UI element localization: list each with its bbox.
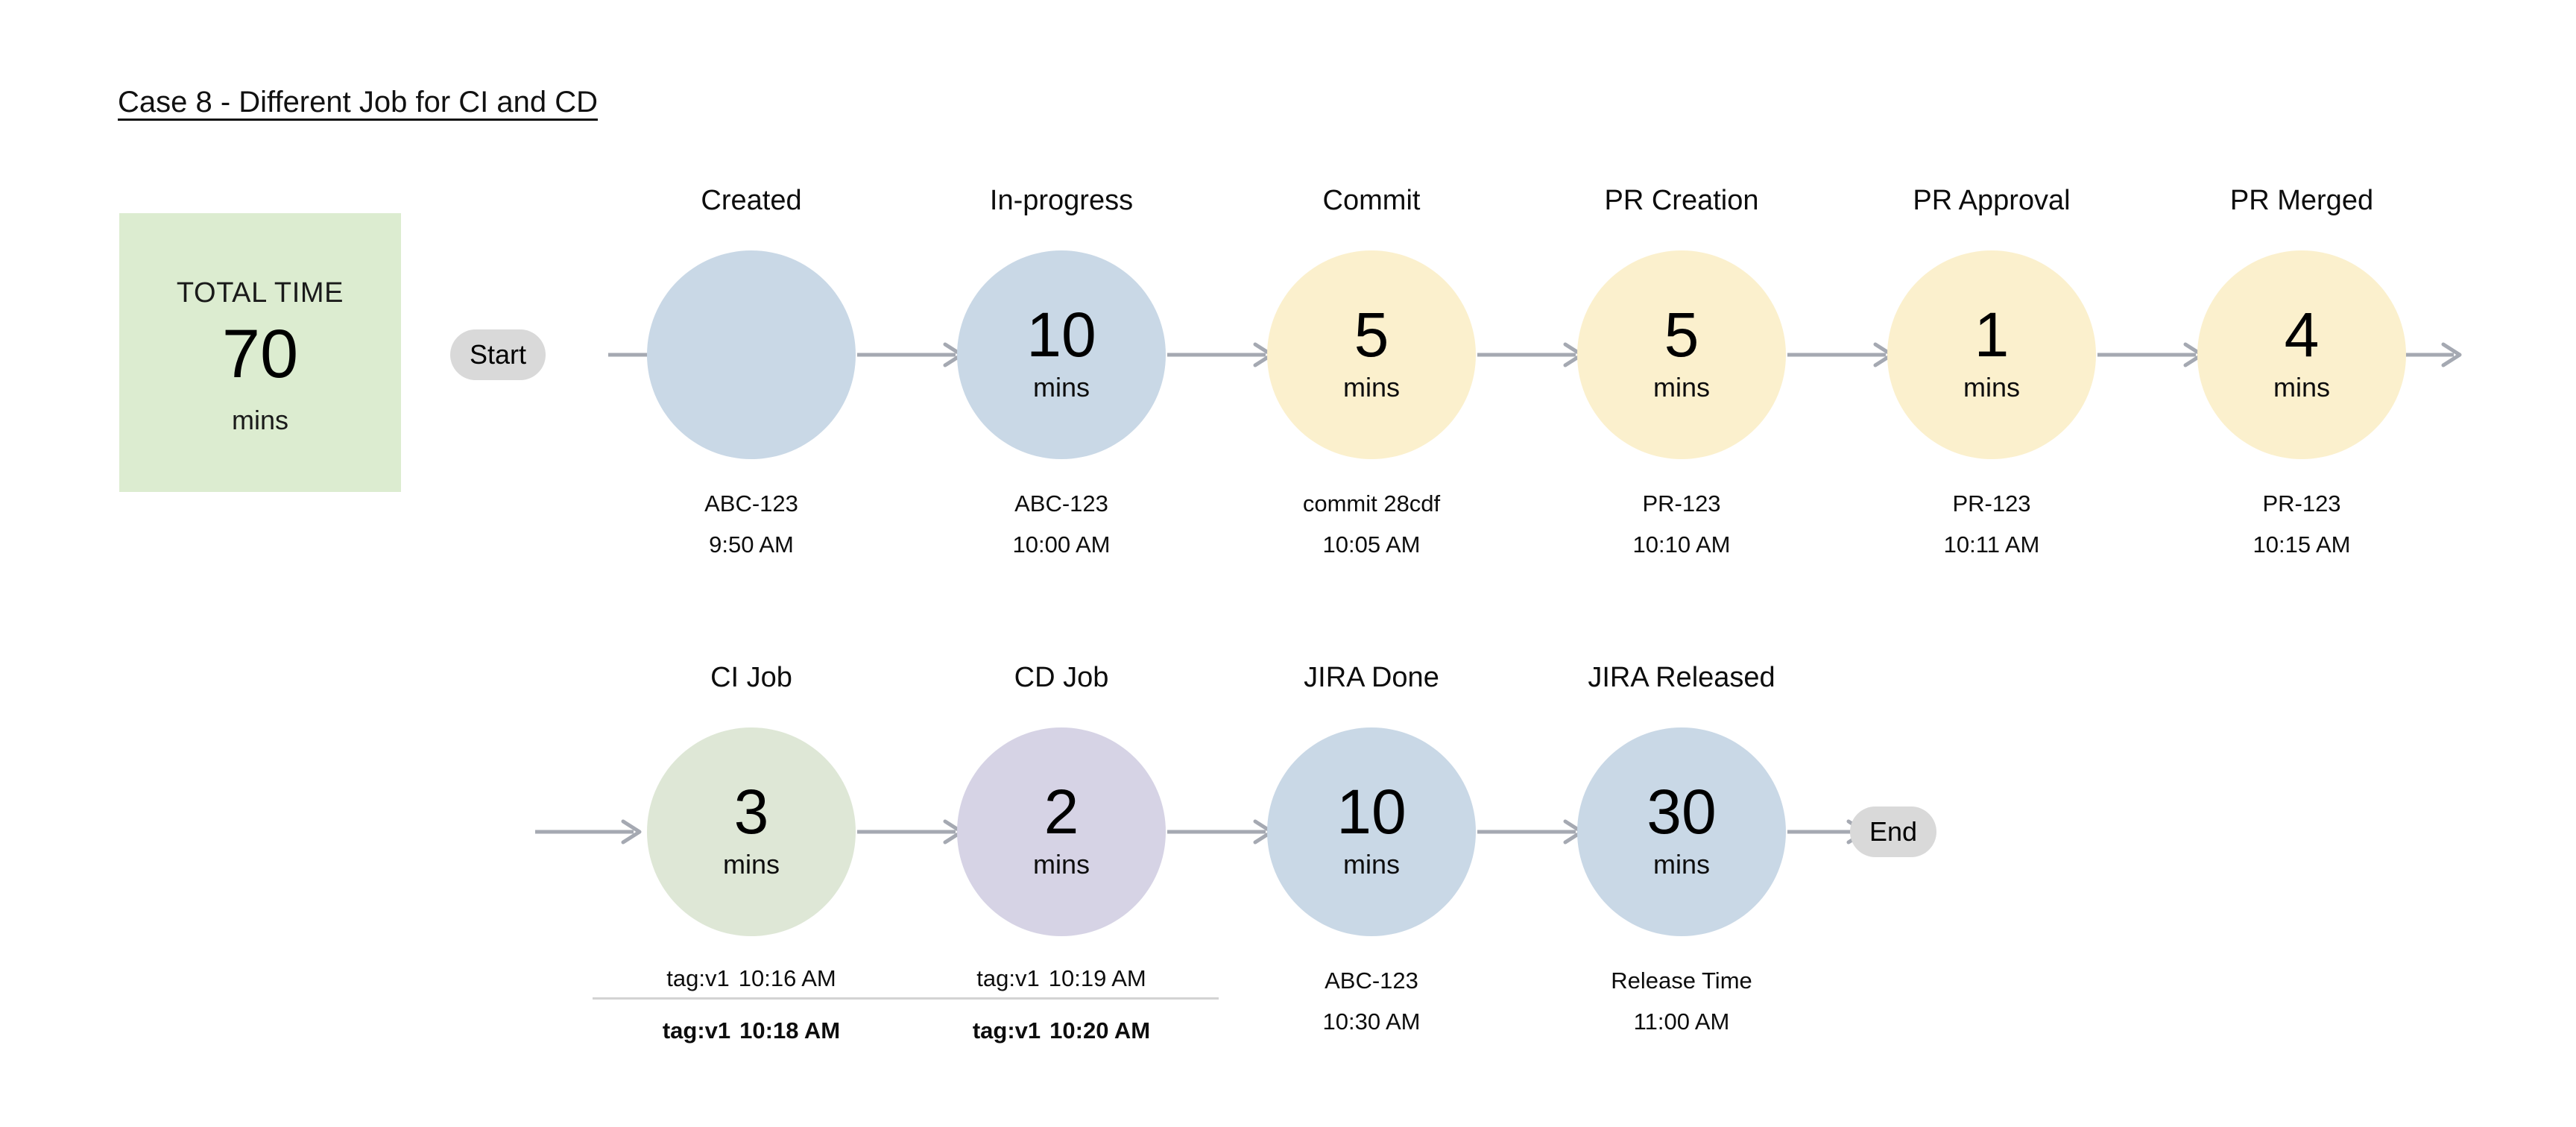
node-value: 5 [1664, 306, 1699, 364]
node-caption: PR-123 10:11 AM [1835, 483, 2148, 565]
node-caption-ref: PR-123 [1642, 490, 1720, 517]
node-title: Created [701, 185, 801, 217]
node-bubble[interactable]: 3 mins [647, 727, 856, 936]
node-unit: mins [1033, 372, 1090, 403]
tag-divider [593, 997, 1219, 1000]
node-value: 2 [1044, 783, 1079, 841]
node-caption-time: 10:15 AM [2145, 524, 2458, 565]
arrow-jiradone-to-jirareleased [1477, 817, 1589, 847]
arrow-cdjob-to-jiradone [1167, 817, 1279, 847]
total-time-unit: mins [232, 405, 288, 436]
node-tag: tag:v1 [663, 1017, 730, 1044]
node-caption: Release Time 11:00 AM [1525, 960, 1838, 1042]
node-unit: mins [1343, 849, 1400, 880]
node-title: JIRA Done [1304, 662, 1439, 694]
page-title: Case 8 - Different Job for CI and CD [118, 83, 598, 121]
node-title: In-progress [990, 185, 1133, 217]
node-bubble[interactable]: 2 mins [957, 727, 1166, 936]
node-caption-time: 10:05 AM [1215, 524, 1528, 565]
arrow-inprogress-to-commit [1167, 340, 1279, 370]
node-caption: ABC-123 10:30 AM [1215, 960, 1528, 1042]
node-value: 4 [2285, 306, 2320, 364]
node-value: 3 [734, 783, 769, 841]
total-time-label: TOTAL TIME [177, 277, 344, 309]
node-tag-time: 10:18 AM [739, 1017, 840, 1044]
node-tag-time: 10:16 AM [739, 965, 836, 991]
node-tag: tag:v1 [666, 965, 729, 991]
node-caption: PR-123 10:15 AM [2145, 483, 2458, 565]
start-pill[interactable]: Start [450, 329, 546, 380]
node-unit: mins [723, 849, 780, 880]
node-tag-time: 10:20 AM [1049, 1017, 1150, 1044]
node-caption-time: 9:50 AM [595, 524, 908, 565]
node-unit: mins [1343, 372, 1400, 403]
node-bubble[interactable]: mins [647, 250, 856, 459]
node-value: 30 [1647, 783, 1716, 841]
node-caption: ABC-123 9:50 AM [595, 483, 908, 565]
node-tag-caption-secondary: tag:v110:18 AM [595, 1012, 908, 1049]
node-caption-ref: PR-123 [1952, 490, 2030, 517]
node-caption-ref: Release Time [1611, 967, 1752, 994]
arrow-prapproval-to-prmerged [2097, 340, 2209, 370]
node-caption: PR-123 10:10 AM [1525, 483, 1838, 565]
node-unit: mins [1653, 849, 1710, 880]
total-time-value: 70 [222, 320, 298, 388]
node-title: PR Merged [2230, 185, 2373, 217]
node-caption-time: 10:00 AM [905, 524, 1218, 565]
node-title: CI Job [710, 662, 792, 694]
node-value: 10 [1026, 306, 1096, 364]
node-bubble[interactable]: 30 mins [1577, 727, 1786, 936]
node-caption-time: 11:00 AM [1525, 1001, 1838, 1042]
node-bubble[interactable]: 10 mins [957, 250, 1166, 459]
total-time-card: TOTAL TIME 70 mins [119, 213, 401, 492]
node-caption-time: 10:11 AM [1835, 524, 2148, 565]
node-bubble[interactable]: 4 mins [2197, 250, 2406, 459]
node-caption-ref: ABC-123 [1014, 490, 1108, 517]
node-unit: mins [1963, 372, 2020, 403]
node-caption: commit 28cdf 10:05 AM [1215, 483, 1528, 565]
node-caption-ref: commit 28cdf [1303, 490, 1440, 517]
node-unit: mins [2273, 372, 2330, 403]
node-caption-ref: ABC-123 [1325, 967, 1418, 994]
node-bubble[interactable]: 1 mins [1887, 250, 2096, 459]
arrow-cijob-to-cdjob [857, 817, 969, 847]
node-unit: mins [1653, 372, 1710, 403]
node-tag: tag:v1 [973, 1017, 1041, 1044]
node-caption-ref: ABC-123 [704, 490, 798, 517]
node-bubble[interactable]: 10 mins [1267, 727, 1476, 936]
node-bubble[interactable]: 5 mins [1577, 250, 1786, 459]
node-title: JIRA Released [1588, 662, 1775, 694]
node-bubble[interactable]: 5 mins [1267, 250, 1476, 459]
arrow-into-ci-job [535, 817, 647, 847]
node-tag-time: 10:19 AM [1049, 965, 1146, 991]
node-title: Commit [1323, 185, 1421, 217]
node-value: 1 [1974, 306, 2010, 364]
arrow-prcreation-to-prapproval [1787, 340, 1899, 370]
node-title: PR Approval [1913, 185, 2070, 217]
node-caption-time: 10:30 AM [1215, 1001, 1528, 1042]
arrow-commit-to-prcreation [1477, 340, 1589, 370]
node-tag: tag:v1 [976, 965, 1039, 991]
end-pill[interactable]: End [1850, 806, 1936, 857]
node-caption-time: 10:10 AM [1525, 524, 1838, 565]
node-value: 10 [1336, 783, 1406, 841]
node-tag-caption-primary: tag:v110:19 AM [905, 960, 1218, 997]
node-caption: ABC-123 10:00 AM [905, 483, 1218, 565]
node-title: PR Creation [1605, 185, 1759, 217]
node-unit: mins [1033, 849, 1090, 880]
node-value: 5 [1354, 306, 1389, 364]
node-tag-caption-secondary: tag:v110:20 AM [905, 1012, 1218, 1049]
node-caption-ref: PR-123 [2262, 490, 2340, 517]
node-title: CD Job [1014, 662, 1109, 694]
node-tag-caption-primary: tag:v110:16 AM [595, 960, 908, 997]
arrow-created-to-inprogress [857, 340, 969, 370]
